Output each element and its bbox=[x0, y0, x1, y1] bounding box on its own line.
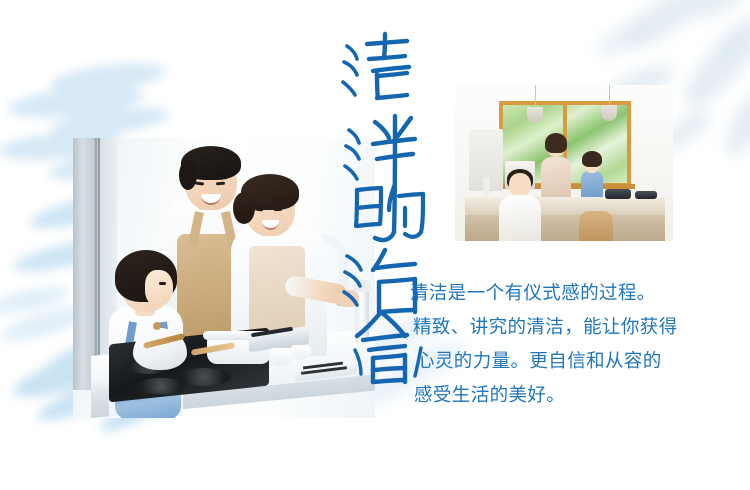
body-copy-line-1: 清洁是一个有仪式感的过程。 bbox=[410, 276, 710, 310]
kitchen-island-body bbox=[465, 215, 665, 241]
kettle-knob bbox=[153, 322, 161, 330]
photo-kitchen-window-secondary bbox=[455, 85, 673, 241]
pendant-lamp-left bbox=[527, 107, 543, 123]
cooktop-pan-1 bbox=[605, 189, 631, 199]
body-copy-line-3: 心灵的力量。更自信和从容的 bbox=[416, 344, 710, 378]
promo-banner: 清洁是一个有仪式感的过程。 精致、讲究的清洁，能让你获得 心灵的力量。更自信和从… bbox=[0, 0, 750, 490]
wooden-chair bbox=[579, 211, 613, 241]
child-face bbox=[145, 270, 173, 306]
father-hair-side bbox=[179, 160, 197, 190]
body-copy-line-4: 感受生活的美好。 bbox=[414, 378, 710, 412]
man-torso bbox=[499, 195, 541, 241]
refrigerator-seam bbox=[98, 138, 100, 390]
photo-kitchen-family-main bbox=[73, 138, 375, 418]
child-eye bbox=[159, 282, 166, 285]
child2-hair bbox=[582, 151, 602, 167]
woman-torso bbox=[541, 157, 571, 199]
cup-1 bbox=[269, 348, 293, 366]
pendant-cord-right bbox=[609, 85, 610, 107]
pendant-lamp-right bbox=[601, 105, 617, 121]
kitchen-island-top bbox=[465, 197, 665, 217]
woman-hair bbox=[545, 133, 567, 153]
mother-eye-right bbox=[274, 208, 282, 212]
child2-torso bbox=[581, 171, 603, 199]
soap-bottle bbox=[483, 177, 490, 195]
man-head bbox=[509, 173, 531, 197]
pendant-cord-left bbox=[535, 85, 536, 107]
body-copy-line-2: 精致、讲究的清洁，能让你获得 bbox=[413, 310, 710, 344]
father-apron bbox=[177, 234, 235, 346]
cooktop-pan-2 bbox=[635, 191, 657, 199]
body-copy: 清洁是一个有仪式感的过程。 精致、讲究的清洁，能让你获得 心灵的力量。更自信和从… bbox=[410, 276, 710, 412]
stove-burner-3 bbox=[135, 378, 187, 394]
mother-ponytail bbox=[233, 192, 255, 224]
father-eye-right bbox=[216, 182, 225, 186]
